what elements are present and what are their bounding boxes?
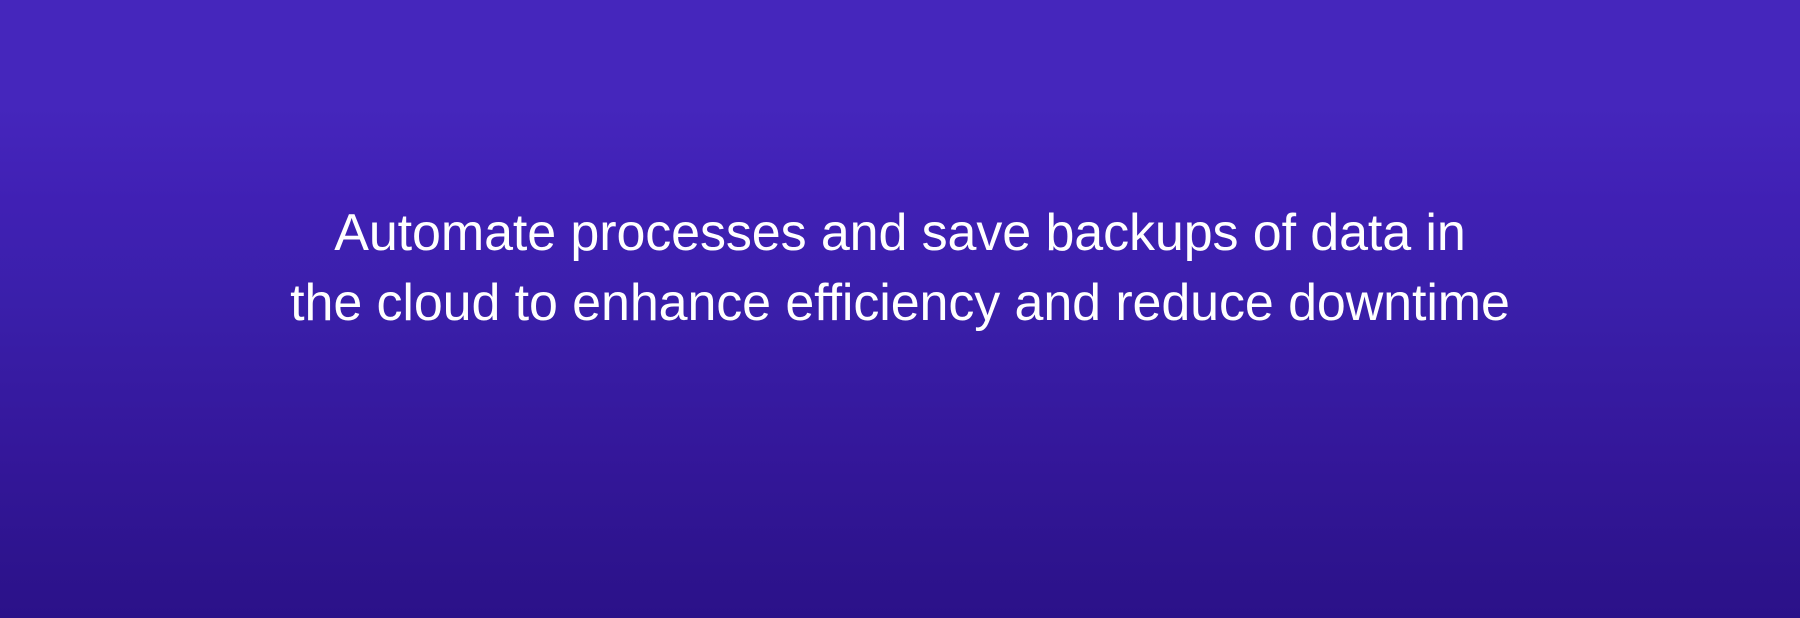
hero-banner: Automate processes and save backups of d…	[0, 0, 1800, 618]
headline-line-1: Automate processes and save backups of d…	[60, 198, 1740, 268]
hero-headline: Automate processes and save backups of d…	[60, 198, 1740, 338]
headline-line-2: the cloud to enhance efficiency and redu…	[60, 268, 1740, 338]
hero-copy-block: Automate processes and save backups of d…	[0, 198, 1800, 338]
